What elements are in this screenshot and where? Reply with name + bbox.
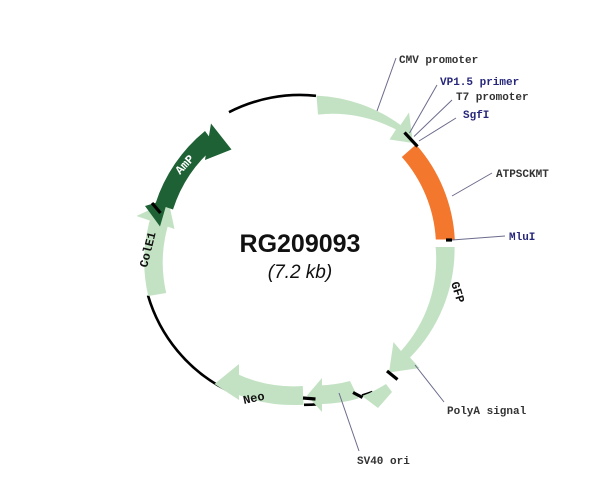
- plasmid-name: RG209093: [240, 230, 361, 258]
- backbone-arc-top-left: [229, 95, 316, 112]
- plasmid-map: CMV promoter VP1.5 primer T7 promoter Sg…: [0, 0, 600, 504]
- leader-vp15-primer: [410, 85, 438, 133]
- feature-polya-signal[interactable]: [361, 384, 393, 408]
- label-sv40-ori: SV40 ori: [357, 456, 410, 468]
- label-atpsckmt: ATPSCKMT: [496, 169, 549, 181]
- label-sgfi: SgfI: [463, 110, 489, 122]
- backbone-arc-left: [148, 296, 227, 391]
- sv40-ori-arrow[interactable]: [307, 378, 359, 412]
- label-mlui: MluI: [509, 232, 535, 244]
- feature-sv40-ori[interactable]: [307, 378, 359, 412]
- leader-atpsckmt: [452, 173, 492, 196]
- leader-mlui: [452, 236, 505, 240]
- feature-atpsckmt-gene[interactable]: [402, 145, 455, 240]
- polya-signal-arrow[interactable]: [361, 384, 393, 408]
- gfp-polya-tick: [387, 371, 398, 380]
- label-t7-promoter: T7 promoter: [456, 92, 529, 104]
- leader-t7-promoter: [414, 100, 452, 137]
- leader-sv40-ori: [339, 393, 359, 451]
- atpsckmt-arrow[interactable]: [402, 145, 455, 240]
- label-polya-signal: PolyA signal: [447, 406, 527, 418]
- label-gfp: GFP: [447, 280, 467, 305]
- label-vp15-primer: VP1.5 primer: [440, 77, 519, 89]
- label-neo: Neo: [242, 390, 266, 408]
- plasmid-map-canvas: CMV promoter VP1.5 primer T7 promoter Sg…: [0, 0, 600, 504]
- feature-gfp-gene[interactable]: [389, 247, 455, 373]
- gfp-arrow[interactable]: [389, 247, 455, 373]
- plasmid-size: (7.2 kb): [268, 262, 332, 283]
- label-cmv-promoter: CMV promoter: [399, 55, 478, 67]
- leader-sgfi: [419, 118, 456, 141]
- neo-sv40-tick: [303, 398, 316, 399]
- leader-cmv-promoter: [377, 58, 396, 111]
- cmv-promoter-arrow[interactable]: [317, 96, 414, 143]
- leader-polya-signal: [415, 365, 444, 402]
- feature-cmv-promoter[interactable]: [317, 96, 414, 143]
